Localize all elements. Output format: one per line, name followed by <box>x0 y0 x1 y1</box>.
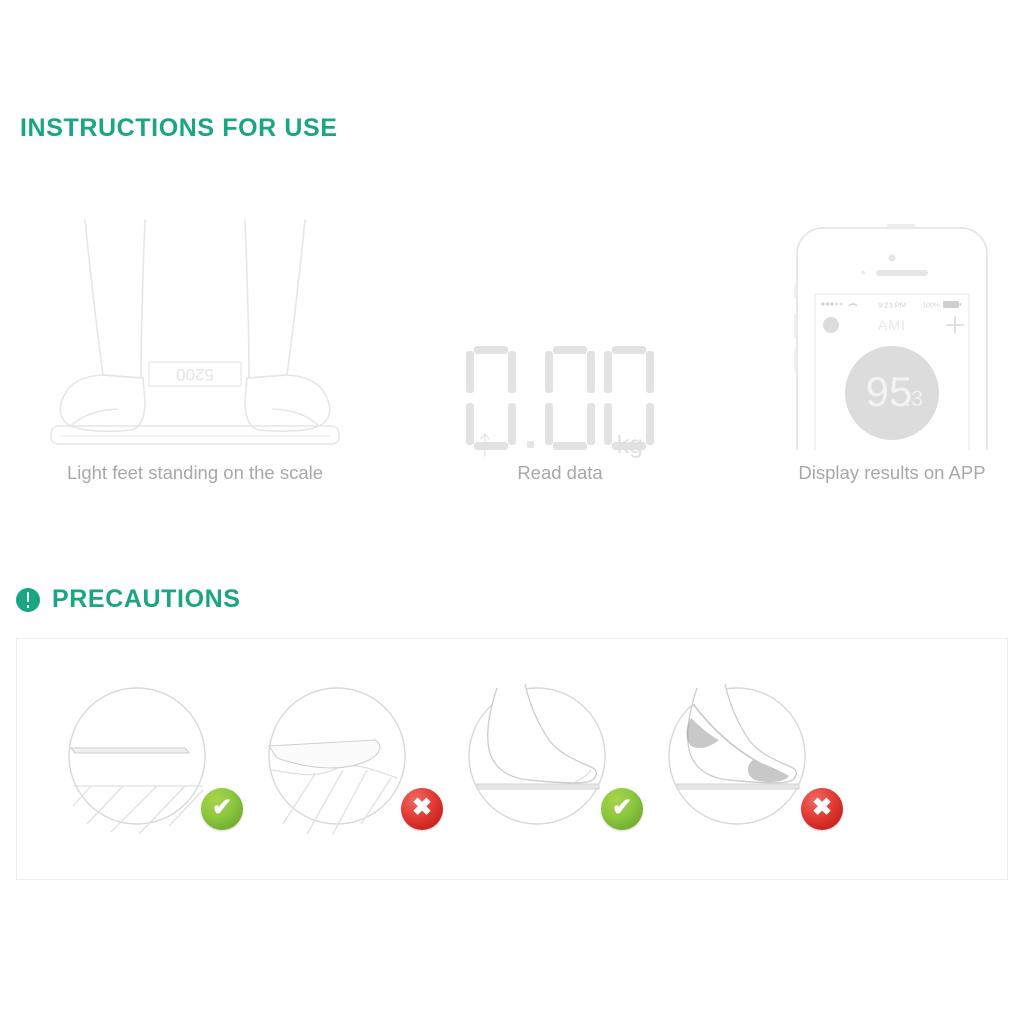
precautions-heading-text: PRECAUTIONS <box>52 585 241 614</box>
app-avatar-icon[interactable] <box>823 317 839 333</box>
bare-foot-on-scale-icon <box>457 674 627 844</box>
lcd-panel: ᛏ kg <box>400 250 720 450</box>
instructions-heading: INSTRUCTIONS FOR USE <box>20 114 338 143</box>
instructions-row: 5200 Light feet standing on the scale <box>0 200 1024 510</box>
front-camera-icon <box>888 254 895 261</box>
precautions-heading: PRECAUTIONS <box>16 585 241 614</box>
smartphone-icon: 9:23 PM 100% AMI 95 .3 <box>777 210 1007 450</box>
scale-brand-text: 5200 <box>176 365 214 384</box>
step-caption-feet-on-scale: Light feet standing on the scale <box>20 462 370 484</box>
precautions-panel: ✔ ✖ <box>16 638 1008 880</box>
scale-platform-flat <box>677 784 799 789</box>
instruction-step-feet-on-scale: 5200 Light feet standing on the scale <box>20 200 370 510</box>
check-icon: ✔ <box>212 796 232 820</box>
status-badge-ok: ✔ <box>601 788 643 830</box>
scale-on-soft-carpet-icon <box>257 674 427 844</box>
lcd-display-illustration: ᛏ kg <box>400 200 720 450</box>
scale-platform-flat <box>477 784 599 789</box>
scale-on-hard-floor-icon <box>57 674 227 844</box>
feet-on-scale-illustration: 5200 <box>20 200 370 450</box>
instruction-step-display-on-app: 9:23 PM 100% AMI 95 .3 <box>760 200 1024 510</box>
instruction-step-read-data: ᛏ kg Read data <box>400 200 720 510</box>
cross-icon: ✖ <box>812 796 832 820</box>
bluetooth-icon: ᛏ <box>477 432 493 458</box>
precautions-items: ✔ ✖ <box>17 639 1007 879</box>
cross-icon: ✖ <box>412 796 432 820</box>
precaution-item-soft-carpet: ✖ <box>257 674 457 844</box>
lcd-unit-label: kg <box>617 433 643 458</box>
foot-with-sock-on-scale-icon <box>657 674 827 844</box>
lcd-indicator-row: ᛏ kg <box>400 432 720 458</box>
status-bar-battery-percent: 100% <box>922 303 940 310</box>
check-icon: ✔ <box>612 796 632 820</box>
status-badge-ok: ✔ <box>201 788 243 830</box>
instructions-heading-text: INSTRUCTIONS FOR USE <box>20 114 338 143</box>
battery-icon <box>943 301 959 308</box>
precaution-item-bare-foot: ✔ <box>457 674 657 844</box>
earpiece-speaker-icon <box>876 270 928 276</box>
app-title: AMI <box>878 317 906 333</box>
status-badge-not-ok: ✖ <box>401 788 443 830</box>
smartphone-illustration: 9:23 PM 100% AMI 95 .3 <box>760 200 1024 450</box>
precaution-item-hard-floor: ✔ <box>57 674 257 844</box>
step-caption-display-on-app: Display results on APP <box>760 462 1024 484</box>
scale-platform-flat <box>71 748 189 753</box>
status-badge-not-ok: ✖ <box>801 788 843 830</box>
feet-on-scale-icon: 5200 <box>45 210 345 450</box>
precaution-item-sock-foot: ✖ <box>657 674 857 844</box>
weight-decimal: .3 <box>905 386 923 411</box>
step-caption-read-data: Read data <box>400 462 720 484</box>
exclamation-circle-icon <box>16 588 40 612</box>
status-bar-time: 9:23 PM <box>878 301 906 310</box>
